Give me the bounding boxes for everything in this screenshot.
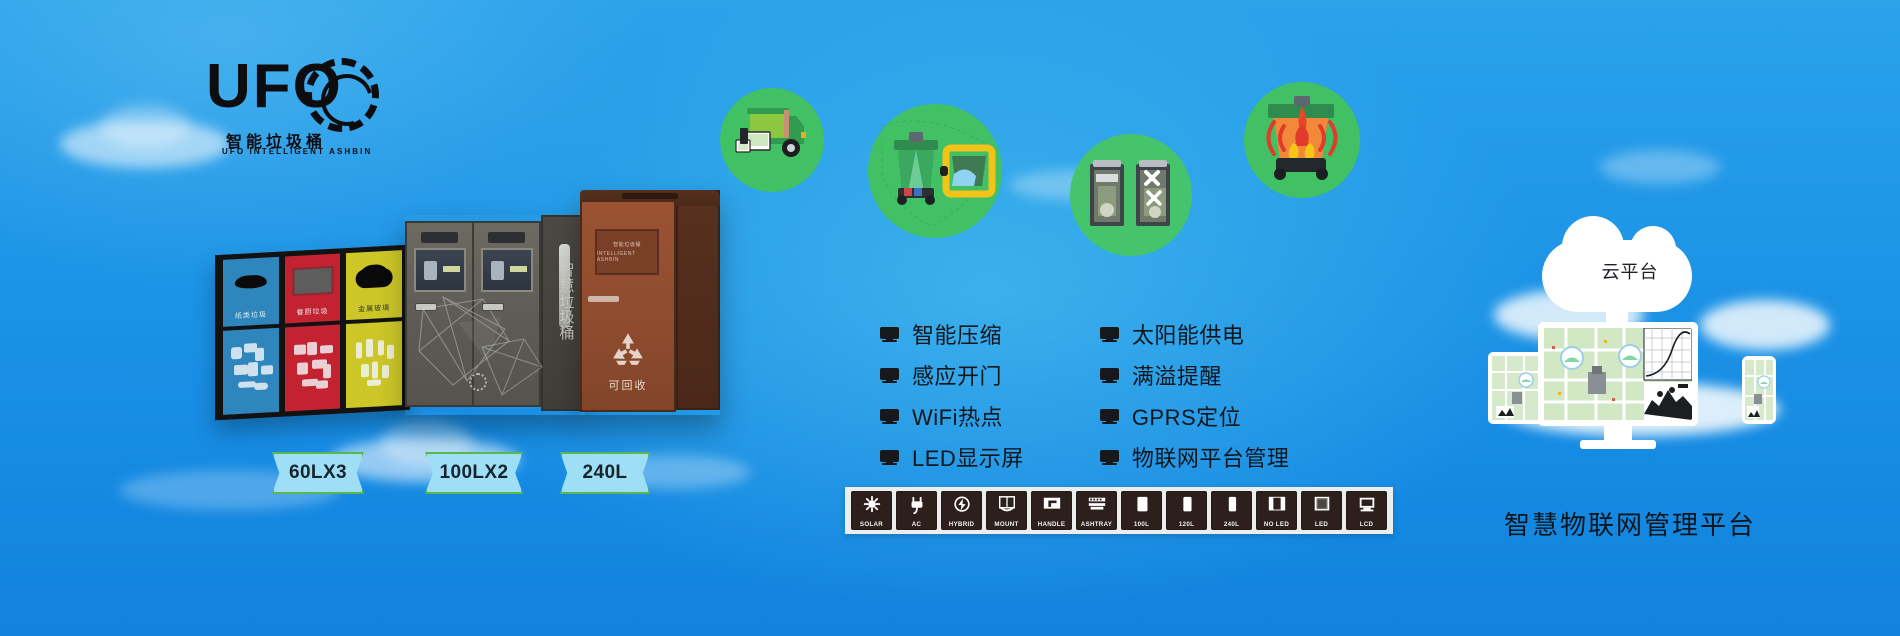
map-dashboard-graphic bbox=[1544, 328, 1692, 420]
logo-english-name: UFO INTELLIGENT ASHBIN bbox=[222, 147, 372, 156]
ribbon-label: 240L bbox=[583, 462, 628, 484]
feature-item: GPRS定位 bbox=[1100, 400, 1290, 432]
bin-slot-icon bbox=[235, 275, 267, 290]
feature-label: WiFi热点 bbox=[912, 400, 1003, 432]
grey-smart-bin: 智慧垃圾桶 bbox=[405, 215, 585, 415]
capacity-ribbon-60l: 60LX3 bbox=[272, 452, 364, 494]
capacity-ribbon-240l: 240L bbox=[560, 452, 650, 494]
ribbon-label: 60LX3 bbox=[289, 462, 347, 484]
bin-front-face bbox=[405, 221, 541, 407]
monitor-icon bbox=[1100, 450, 1119, 465]
brand-logo: UFO 智能垃圾桶 UFO INTELLIGENT ASHBIN bbox=[200, 52, 390, 157]
bin-display-window bbox=[414, 248, 466, 292]
bin-compartment-metal-glass: 金属玻璃 bbox=[346, 250, 402, 408]
bin-front-face: 智能垃圾桶 INTELLIGENT ASHBIN 可回收 bbox=[580, 200, 676, 412]
spec-item-solar: SOLAR bbox=[851, 491, 892, 530]
display-image bbox=[424, 261, 436, 280]
bin-led-strip bbox=[622, 193, 678, 199]
display-line-1: 智能垃圾桶 bbox=[613, 241, 641, 248]
display-text-bar bbox=[443, 266, 459, 272]
phone-device bbox=[1742, 356, 1776, 424]
monitor-foot bbox=[1580, 440, 1656, 449]
spec-item-120l: 120L bbox=[1166, 491, 1207, 530]
promo-banner: UFO 智能垃圾桶 UFO INTELLIGENT ASHBIN 纸类垃圾 bbox=[0, 0, 1900, 636]
monitor-device bbox=[1538, 322, 1698, 426]
spec-item-ashtray: ASHTRAY bbox=[1076, 491, 1117, 530]
bin-led-strip bbox=[488, 232, 524, 243]
illustration-circle-bagsealing bbox=[1070, 134, 1192, 256]
feature-item: 满溢提醒 bbox=[1100, 359, 1290, 391]
bin-led-strip bbox=[421, 232, 457, 243]
spec-item-led: LED bbox=[1301, 491, 1342, 530]
spec-item-mount: MOUNT bbox=[986, 491, 1027, 530]
bin-display-window bbox=[481, 248, 533, 292]
monitor-icon bbox=[1100, 327, 1119, 342]
bin-display-panel: 智能垃圾桶 INTELLIGENT ASHBIN bbox=[595, 229, 659, 275]
compartment-label: 纸类垃圾 bbox=[223, 309, 279, 322]
spec-item-handle: HANDLE bbox=[1031, 491, 1072, 530]
bin-compartment-paper: 纸类垃圾 bbox=[223, 257, 279, 415]
capacity-ribbon-100l: 100LX2 bbox=[425, 452, 523, 494]
feature-item: 智能压缩 bbox=[880, 318, 1024, 350]
garbage-truck-monitoring-icon bbox=[720, 88, 824, 192]
litter-graphic bbox=[290, 337, 335, 400]
brown-recycle-bin: 智能垃圾桶 INTELLIGENT ASHBIN 可回收 bbox=[580, 190, 720, 415]
feature-item: 物联网平台管理 bbox=[1100, 441, 1290, 473]
sun-icon bbox=[861, 495, 883, 515]
bag-sealing-bins-icon bbox=[1070, 134, 1192, 256]
monitor-screen bbox=[1544, 328, 1692, 420]
spec-label: LCD bbox=[1347, 521, 1386, 528]
led-icon bbox=[1311, 495, 1333, 515]
recycle-icon bbox=[608, 331, 648, 369]
feature-list: 智能压缩 感应开门 WiFi热点 LED显示屏 太阳能供电 满溢提醒 bbox=[880, 318, 1289, 473]
illustration-circle-truck bbox=[720, 88, 824, 192]
spec-label: LED bbox=[1302, 521, 1341, 528]
mount-icon bbox=[996, 495, 1018, 515]
feature-label: LED显示屏 bbox=[912, 441, 1024, 473]
map-dashboard-graphic bbox=[1492, 356, 1540, 420]
display-line-2: INTELLIGENT ASHBIN bbox=[597, 251, 657, 263]
fire-alarm-bin-icon bbox=[1244, 82, 1360, 198]
spec-item-hybrid: HYBRID bbox=[941, 491, 982, 530]
ribbon-label: 100LX2 bbox=[440, 462, 509, 484]
spec-item-no-led: NO LED bbox=[1256, 491, 1297, 530]
illustration-circle-overflow bbox=[868, 104, 1002, 238]
bin-side-panel bbox=[676, 190, 720, 410]
spec-label: ASHTRAY bbox=[1077, 521, 1116, 528]
feature-column-left: 智能压缩 感应开门 WiFi热点 LED显示屏 bbox=[880, 318, 1024, 473]
ufo-ring-icon bbox=[305, 58, 379, 132]
spec-item-240l: 240L bbox=[1211, 491, 1252, 530]
compartment-label: 餐厨垃圾 bbox=[285, 306, 341, 319]
tablet-device bbox=[1488, 352, 1544, 424]
spec-label: HANDLE bbox=[1032, 521, 1071, 528]
spec-label: 100L bbox=[1122, 521, 1161, 528]
monitor-icon bbox=[880, 450, 899, 465]
bin-door-left bbox=[407, 223, 474, 405]
feature-item: 感应开门 bbox=[880, 359, 1024, 391]
spec-item-lcd: LCD bbox=[1346, 491, 1387, 530]
feature-label: 太阳能供电 bbox=[1132, 318, 1245, 350]
feature-label: 物联网平台管理 bbox=[1132, 441, 1290, 473]
illustration-circle-firealarm bbox=[1244, 82, 1360, 198]
display-text-bar bbox=[510, 266, 526, 272]
spec-label: 120L bbox=[1167, 521, 1206, 528]
plug-icon bbox=[906, 495, 928, 515]
product-bins-group: 纸类垃圾 bbox=[190, 190, 830, 450]
bin-compartment-kitchen: 餐厨垃圾 bbox=[285, 253, 341, 411]
bin-240l-icon bbox=[1221, 495, 1243, 515]
monitor-icon bbox=[880, 409, 899, 424]
feature-item: 太阳能供电 bbox=[1100, 318, 1290, 350]
feature-label: 满溢提醒 bbox=[1132, 359, 1222, 391]
litter-graphic bbox=[229, 340, 274, 403]
platform-title: 智慧物联网管理平台 bbox=[1440, 505, 1820, 542]
lcd-icon bbox=[1356, 495, 1378, 515]
no-led-icon bbox=[1266, 495, 1288, 515]
bin-100l-icon bbox=[1131, 495, 1153, 515]
cloud-decor bbox=[100, 104, 190, 148]
map-dashboard-graphic bbox=[1745, 360, 1773, 420]
feature-label: 智能压缩 bbox=[912, 318, 1002, 350]
spec-label: AC bbox=[897, 521, 936, 528]
spec-label: MOUNT bbox=[987, 521, 1026, 528]
bin-slot-icon bbox=[356, 268, 393, 289]
bin-vertical-label: 智慧垃圾桶 bbox=[557, 263, 577, 342]
monitor-icon bbox=[1100, 409, 1119, 424]
feature-column-right: 太阳能供电 满溢提醒 GPRS定位 物联网平台管理 bbox=[1100, 318, 1290, 473]
spec-icon-strip: SOLAR AC HYBRID MOUNT bbox=[845, 487, 1393, 534]
spec-label: 240L bbox=[1212, 521, 1251, 528]
monitor-icon bbox=[1100, 368, 1119, 383]
bin-door-right bbox=[474, 223, 539, 405]
monitor-icon bbox=[880, 327, 899, 342]
three-compartment-bin: 纸类垃圾 bbox=[215, 245, 410, 421]
litter-graphic bbox=[352, 333, 397, 396]
spec-label: HYBRID bbox=[942, 521, 981, 528]
bin-recycle-label: 可回收 bbox=[609, 377, 648, 393]
feature-item: WiFi热点 bbox=[880, 400, 1024, 432]
phone-screen bbox=[1745, 360, 1773, 420]
ufo-ring-icon bbox=[469, 373, 487, 391]
bin-handle bbox=[588, 296, 619, 302]
spec-item-100l: 100L bbox=[1121, 491, 1162, 530]
display-image bbox=[491, 261, 503, 280]
cloud-decor bbox=[1600, 150, 1720, 184]
cloud-platform-label: 云平台 bbox=[1480, 258, 1780, 284]
spec-label: NO LED bbox=[1257, 521, 1296, 528]
bin-120l-icon bbox=[1176, 495, 1198, 515]
bin-slot-icon bbox=[292, 266, 333, 296]
bin-handle bbox=[482, 303, 504, 311]
handle-icon bbox=[1041, 495, 1063, 515]
cloud-platform-illustration: 云平台 bbox=[1480, 240, 1780, 470]
feature-item: LED显示屏 bbox=[880, 441, 1024, 473]
spec-label: SOLAR bbox=[852, 521, 891, 528]
geometric-pattern bbox=[476, 333, 548, 403]
tablet-screen bbox=[1492, 356, 1540, 420]
bin-sensor-overflow-icon bbox=[868, 104, 1002, 238]
ashtray-icon bbox=[1086, 495, 1108, 515]
spec-item-ac: AC bbox=[896, 491, 937, 530]
lightning-icon bbox=[951, 495, 973, 515]
feature-label: 感应开门 bbox=[912, 359, 1002, 391]
feature-label: GPRS定位 bbox=[1132, 400, 1241, 432]
monitor-icon bbox=[880, 368, 899, 383]
compartment-label: 金属玻璃 bbox=[346, 302, 402, 315]
